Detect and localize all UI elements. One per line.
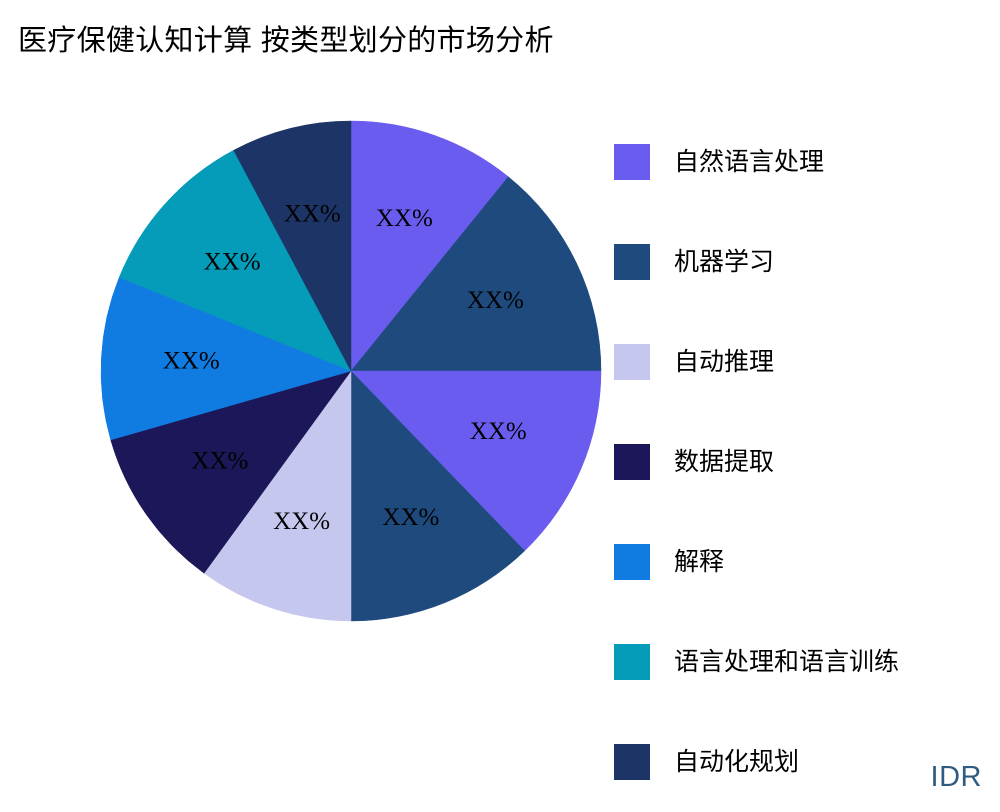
- legend-swatch-icon: [614, 444, 650, 480]
- legend-item-label: 自动化规划: [674, 747, 799, 777]
- legend-swatch-icon: [614, 244, 650, 280]
- legend-swatch-icon: [614, 644, 650, 680]
- pie-chart: XX%XX%XX%XX%XX%XX%XX%XX%XX%: [100, 120, 602, 622]
- legend-swatch-icon: [614, 344, 650, 380]
- legend-item-label: 自然语言处理: [674, 147, 824, 177]
- pie-slice-label: XX%: [376, 205, 433, 232]
- legend-item[interactable]: 语言处理和语言训练: [614, 612, 1000, 712]
- pie-slice-label: XX%: [382, 504, 439, 531]
- pie-slice-label: XX%: [470, 418, 527, 445]
- legend-item[interactable]: 解释: [614, 512, 1000, 612]
- legend-item-label: 数据提取: [674, 447, 774, 477]
- pie-slice-label: XX%: [284, 201, 341, 228]
- legend-item[interactable]: 机器学习: [614, 212, 1000, 312]
- legend: 自然语言处理机器学习自动推理数据提取解释语言处理和语言训练自动化规划: [614, 112, 1000, 812]
- legend-item-label: 语言处理和语言训练: [674, 647, 899, 677]
- pie-slice-label: XX%: [467, 287, 524, 314]
- pie-slice-label: XX%: [273, 508, 330, 535]
- legend-item[interactable]: 自动推理: [614, 312, 1000, 412]
- legend-swatch-icon: [614, 144, 650, 180]
- page-title: 医疗保健认知计算 按类型划分的市场分析: [18, 22, 838, 60]
- watermark-idr: IDR: [931, 761, 982, 794]
- legend-swatch-icon: [614, 744, 650, 780]
- legend-item[interactable]: 自然语言处理: [614, 112, 1000, 212]
- legend-item-label: 解释: [674, 547, 724, 577]
- pie-chart-svg: XX%XX%XX%XX%XX%XX%XX%XX%XX%: [100, 120, 602, 622]
- legend-item[interactable]: 数据提取: [614, 412, 1000, 512]
- legend-item-label: 自动推理: [674, 347, 774, 377]
- pie-slice-label: XX%: [191, 448, 248, 475]
- pie-slice-label: XX%: [204, 249, 261, 276]
- chart-root: 医疗保健认知计算 按类型划分的市场分析 XX%XX%XX%XX%XX%XX%XX…: [0, 0, 1000, 800]
- pie-slice-label: XX%: [163, 347, 220, 374]
- legend-item-label: 机器学习: [674, 247, 774, 277]
- legend-swatch-icon: [614, 544, 650, 580]
